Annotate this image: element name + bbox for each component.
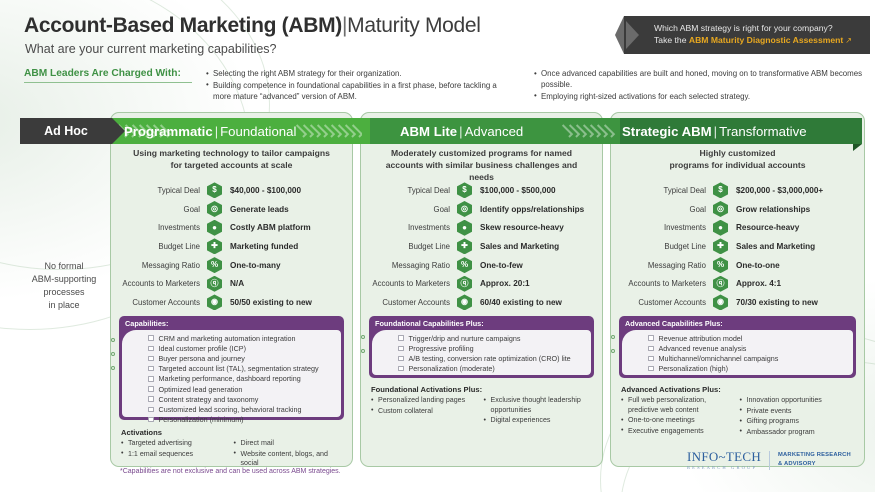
icon-glyph: ◉: [211, 298, 218, 306]
logo-tagline-line-1: MARKETING RESEARCH: [778, 451, 851, 460]
capability-label: Targeted account list (TAL), segmentatio…: [159, 364, 319, 373]
metric-value: $40,000 - $100,000: [222, 186, 301, 195]
metric-value: Approx. 4:1: [728, 279, 781, 288]
list-item: Website content, blogs, and social: [234, 450, 343, 469]
icon-glyph: ◎: [211, 205, 218, 213]
hexagon-badge: ●: [713, 220, 728, 236]
checkbox-icon[interactable]: [398, 335, 404, 341]
list-item: Building competence in foundational capa…: [206, 80, 516, 102]
metric-value: Sales and Marketing: [472, 242, 559, 251]
metrics-list: Typical Deal$$100,000 - $500,000Goal◎Ide…: [361, 181, 602, 312]
percent-icon: %: [207, 257, 222, 273]
budget-icon: ✚: [457, 238, 472, 254]
chevron-group: [296, 118, 362, 144]
activations-title: Activations: [121, 428, 342, 437]
stage-separator: |: [712, 124, 719, 139]
connector-dot: [611, 335, 615, 339]
checkbox-icon[interactable]: [398, 356, 404, 362]
hexagon-badge: $: [457, 182, 472, 198]
metric-value: N/A: [222, 279, 244, 288]
hexagon-badge: ◉: [457, 294, 472, 310]
metric-value: One-to-one: [728, 261, 780, 270]
activations-section: Advanced Activations Plus:Full web perso…: [621, 385, 854, 439]
capabilities-box: Capabilities:CRM and marketing automatio…: [119, 316, 344, 420]
activations-list-right: Direct mailWebsite content, blogs, and s…: [234, 439, 343, 470]
hexagon-badge: ◉: [207, 294, 222, 310]
metric-label: Typical Deal: [611, 186, 713, 195]
logo-divider: [769, 451, 770, 470]
list-item: Exclusive thought leadership opportuniti…: [484, 396, 593, 415]
list-item: Personalized landing pages: [371, 396, 480, 406]
activations-list-left: Personalized landing pagesCustom collate…: [371, 396, 480, 427]
list-item: Custom collateral: [371, 407, 480, 417]
list-item: Full web personalization, predictive web…: [621, 396, 736, 415]
charged-with-label: ABM Leaders Are Charged With:: [24, 68, 181, 79]
hexagon-badge: ◉: [713, 294, 728, 310]
stage-description: Using marketing technology to tailor cam…: [111, 147, 352, 171]
icon-glyph: ●: [718, 224, 723, 232]
cta-line-2: Take the ABM Maturity Diagnostic Assessm…: [654, 35, 852, 47]
capability-item[interactable]: Ideal customer profile (ICP): [122, 343, 341, 353]
metric-label: Messaging Ratio: [611, 261, 713, 270]
metric-label: Accounts to Marketers: [361, 279, 457, 288]
logo-main-text: INFO~TECH: [687, 450, 761, 463]
checkbox-icon[interactable]: [398, 346, 404, 352]
icon-glyph: ✚: [717, 242, 724, 250]
capabilities-panel: Foundational Capabilities Plus:Trigger/d…: [369, 316, 594, 378]
hexagon-badge: $: [207, 182, 222, 198]
icon-glyph: $: [462, 186, 466, 194]
capabilities-box: Advanced Capabilities Plus:Revenue attri…: [619, 316, 856, 378]
checkbox-icon[interactable]: [648, 356, 654, 362]
metric-label: Investments: [111, 223, 207, 232]
metric-label: Typical Deal: [361, 186, 457, 195]
cta-link[interactable]: ABM Maturity Diagnostic Assessment: [689, 35, 843, 45]
external-link-icon: ↗: [845, 36, 852, 45]
stage-name: ABM Lite: [400, 124, 457, 139]
metric-row: Goal◎Identify opps/relationships: [361, 200, 602, 219]
checkbox-icon[interactable]: [398, 366, 404, 372]
metric-label: Goal: [611, 205, 713, 214]
capability-label: Buyer persona and journey: [159, 354, 245, 363]
capabilities-checklist: Revenue attribution modelAdvanced revenu…: [622, 330, 853, 375]
metric-label: Goal: [111, 205, 207, 214]
page-title: Account-Based Marketing (ABM)|Maturity M…: [24, 14, 481, 38]
capabilities-panel: Capabilities:CRM and marketing automatio…: [119, 316, 344, 420]
accounts-icon: ◉: [457, 294, 472, 310]
capabilities-title: Advanced Capabilities Plus:: [625, 319, 723, 328]
list-item: 1:1 email sequences: [121, 450, 230, 460]
list-item: Direct mail: [234, 439, 343, 449]
icon-glyph: ✚: [211, 242, 218, 250]
capability-item[interactable]: Revenue attribution model: [622, 333, 853, 343]
list-item: Private events: [740, 407, 855, 417]
stage-description: Moderately customized programs for named…: [361, 147, 602, 183]
connector-dot: [361, 349, 365, 353]
activations-columns: Personalized landing pagesCustom collate…: [371, 396, 592, 427]
stage-separator: |: [213, 124, 220, 139]
hexagon-badge: ●: [207, 220, 222, 236]
metric-row: Customer Accounts◉60/40 existing to new: [361, 293, 602, 312]
stage-tier: Transformative: [719, 124, 806, 139]
icon-glyph: $: [718, 186, 722, 194]
abm-maturity-model-infographic: Account-Based Marketing (ABM)|Maturity M…: [0, 0, 875, 492]
hexagon-badge: ◎: [207, 201, 222, 217]
metric-label: Accounts to Marketers: [611, 279, 713, 288]
metric-label: Budget Line: [611, 242, 713, 251]
metric-row: Budget Line✚Marketing funded: [111, 237, 352, 256]
metric-label: Messaging Ratio: [361, 261, 457, 270]
hexagon-badge: ✚: [207, 238, 222, 254]
target-icon: ◎: [457, 201, 472, 217]
capability-label: Ideal customer profile (ICP): [159, 344, 246, 353]
metric-row: Goal◎Generate leads: [111, 200, 352, 219]
metric-row: Messaging Ratio%One-to-many: [111, 256, 352, 275]
list-item: Innovation opportunities: [740, 396, 855, 406]
capability-item[interactable]: Personalization (high): [622, 364, 853, 374]
checkbox-icon[interactable]: [648, 366, 654, 372]
capability-label: Trigger/drip and nurture campaigns: [409, 334, 521, 343]
stage-band-label: ABM Lite|Advanced: [400, 124, 523, 139]
hexagon-badge: ●: [457, 220, 472, 236]
capability-label: Optimized lead generation: [159, 385, 243, 394]
list-item: Gifting programs: [740, 417, 855, 427]
hexagon-badge: %: [207, 257, 222, 273]
page-title-sub: Maturity Model: [347, 14, 481, 37]
icon-glyph: $: [212, 186, 216, 194]
piggy-bank-icon: ●: [207, 220, 222, 236]
metric-label: Customer Accounts: [111, 298, 207, 307]
checkbox-icon[interactable]: [648, 346, 654, 352]
info-tech-logo: INFO~TECH RESEARCH GROUP MARKETING RESEA…: [687, 450, 851, 470]
metric-row: Typical Deal$$100,000 - $500,000: [361, 181, 602, 200]
chevron-group: [118, 118, 172, 144]
metrics-list: Typical Deal$$200,000 - $3,000,000+Goal◎…: [611, 181, 864, 312]
icon-glyph: ⓠ: [211, 280, 219, 288]
metric-value: Identify opps/relationships: [472, 205, 584, 214]
list-item: Digital experiences: [484, 416, 593, 426]
metric-value: Costly ABM platform: [222, 223, 311, 232]
stage-band-strategic-abm[interactable]: Strategic ABM|Transformative: [610, 118, 862, 144]
charged-with-list-right: Once advanced capabilities are built and…: [534, 68, 864, 103]
metric-row: Budget Line✚Sales and Marketing: [611, 237, 864, 256]
icon-glyph: %: [461, 261, 468, 269]
hexagon-badge: ⓠ: [207, 276, 222, 292]
list-item: Executive engagements: [621, 427, 736, 437]
dollar-icon: $: [713, 182, 728, 198]
connector-dot: [611, 349, 615, 353]
metric-value: $200,000 - $3,000,000+: [728, 186, 823, 195]
stage-band-label: Ad Hoc: [44, 124, 88, 138]
metric-value: 70/30 existing to new: [728, 298, 818, 307]
cta-line-1: Which ABM strategy is right for your com…: [654, 23, 852, 35]
icon-glyph: ●: [462, 224, 467, 232]
chevron-group: [562, 118, 618, 144]
icon-glyph: ⓠ: [717, 280, 725, 288]
metric-value: Generate leads: [222, 205, 289, 214]
metric-row: Messaging Ratio%One-to-few: [361, 256, 602, 275]
play-arrow-icon: [626, 21, 639, 49]
metric-row: Customer Accounts◉50/50 existing to new: [111, 293, 352, 312]
hexagon-badge: ⓠ: [713, 276, 728, 292]
hexagon-badge: %: [713, 257, 728, 273]
stage-tier: Foundational: [220, 124, 296, 139]
capability-label: Content strategy and taxonomy: [159, 395, 259, 404]
metric-row: Accounts to MarketersⓠApprox. 4:1: [611, 274, 864, 293]
metric-label: Messaging Ratio: [111, 261, 207, 270]
capabilities-checklist: CRM and marketing automation integration…: [122, 330, 341, 417]
capability-item[interactable]: Optimized lead generation: [122, 384, 341, 394]
metric-value: 60/40 existing to new: [472, 298, 562, 307]
activations-columns: Full web personalization, predictive web…: [621, 396, 854, 439]
checkbox-icon[interactable]: [148, 366, 154, 372]
footnote: *Capabilities are not exclusive and can …: [120, 468, 341, 475]
cta-banner[interactable]: Which ABM strategy is right for your com…: [624, 16, 870, 54]
capability-item[interactable]: A/B testing, conversion rate optimizatio…: [372, 353, 591, 363]
metric-row: Typical Deal$$40,000 - $100,000: [111, 181, 352, 200]
capability-label: CRM and marketing automation integration: [159, 334, 296, 343]
metric-row: Budget Line✚Sales and Marketing: [361, 237, 602, 256]
metric-row: Investments●Costly ABM platform: [111, 218, 352, 237]
capability-item[interactable]: Trigger/drip and nurture campaigns: [372, 333, 591, 343]
hexagon-badge: %: [457, 257, 472, 273]
hexagon-badge: ◎: [713, 201, 728, 217]
activations-list-right: Exclusive thought leadership opportuniti…: [484, 396, 593, 427]
metric-label: Customer Accounts: [361, 298, 457, 307]
capabilities-panel: Advanced Capabilities Plus:Revenue attri…: [619, 316, 856, 378]
capability-label: Personalization (high): [659, 364, 729, 373]
activations-title: Foundational Activations Plus:: [371, 385, 592, 394]
activations-section: Foundational Activations Plus:Personaliz…: [371, 385, 592, 427]
hexagon-badge: $: [713, 182, 728, 198]
metric-label: Accounts to Marketers: [111, 279, 207, 288]
connector-dot: [111, 352, 115, 356]
metric-row: Accounts to MarketersⓠN/A: [111, 274, 352, 293]
capabilities-title: Foundational Capabilities Plus:: [375, 319, 484, 328]
ad-hoc-description: No formal ABM-supporting processes in pl…: [16, 260, 112, 312]
metric-value: $100,000 - $500,000: [472, 186, 556, 195]
magnifier-icon: ⓠ: [713, 276, 728, 292]
metric-row: Customer Accounts◉70/30 existing to new: [611, 293, 864, 312]
charged-with-list-left: Selecting the right ABM strategy for the…: [206, 68, 516, 103]
checkbox-icon[interactable]: [148, 407, 154, 413]
dollar-icon: $: [457, 182, 472, 198]
connector-dot: [111, 338, 115, 342]
stage-column-ad-hoc: No formal ABM-supporting processes in pl…: [8, 112, 104, 467]
cta-text: Which ABM strategy is right for your com…: [654, 23, 852, 46]
capability-label: Advanced revenue analysis: [659, 344, 747, 353]
metric-label: Typical Deal: [111, 186, 207, 195]
stage-band-label: Strategic ABM|Transformative: [622, 124, 807, 139]
page-subtitle: What are your current marketing capabili…: [25, 42, 277, 56]
piggy-bank-icon: ●: [713, 220, 728, 236]
charged-underline: [24, 82, 192, 83]
magnifier-icon: ⓠ: [457, 276, 472, 292]
checkbox-icon[interactable]: [148, 346, 154, 352]
list-item: Ambassador program: [740, 428, 855, 438]
stage-column-strategic-abm: Highly customized programs for individua…: [610, 112, 865, 467]
activations-title: Advanced Activations Plus:: [621, 385, 854, 394]
magnifier-icon: ⓠ: [207, 276, 222, 292]
metric-value: 50/50 existing to new: [222, 298, 312, 307]
list-item: Selecting the right ABM strategy for the…: [206, 68, 516, 79]
logo-tagline-line-2: & ADVISORY: [778, 460, 851, 469]
metric-label: Investments: [361, 223, 457, 232]
capability-label: Customized lead scoring, behavioral trac…: [159, 405, 302, 414]
activations-list-left: Full web personalization, predictive web…: [621, 396, 736, 439]
stage-column-programmatic: Using marketing technology to tailor cam…: [110, 112, 353, 467]
metric-value: Resource-heavy: [728, 223, 799, 232]
icon-glyph: ◎: [461, 205, 468, 213]
capability-item[interactable]: CRM and marketing automation integration: [122, 333, 341, 343]
capabilities-checklist: Trigger/drip and nurture campaignsProgre…: [372, 330, 591, 375]
metric-value: Sales and Marketing: [728, 242, 815, 251]
capability-label: Progressive profiling: [409, 344, 474, 353]
hexagon-badge: ⓠ: [457, 276, 472, 292]
stage-separator: |: [457, 124, 464, 139]
metric-row: Messaging Ratio%One-to-one: [611, 256, 864, 275]
metric-value: One-to-many: [222, 261, 281, 270]
connector-dot: [361, 335, 365, 339]
connector-dot: [111, 366, 115, 370]
page-title-main: Account-Based Marketing (ABM): [24, 14, 342, 37]
metric-value: Approx. 20:1: [472, 279, 530, 288]
metric-label: Goal: [361, 205, 457, 214]
list-item: Targeted advertising: [121, 439, 230, 449]
logo-sub-text: RESEARCH GROUP: [687, 465, 761, 470]
icon-glyph: ◎: [717, 205, 724, 213]
metric-value: Marketing funded: [222, 242, 298, 251]
icon-glyph: ✚: [461, 242, 468, 250]
capability-item[interactable]: Marketing performance, dashboard reporti…: [122, 374, 341, 384]
checkbox-icon[interactable]: [148, 356, 154, 362]
activations-columns: Targeted advertising1:1 email sequencesD…: [121, 439, 342, 470]
capability-item[interactable]: Buyer persona and journey: [122, 353, 341, 363]
capability-label: Personalization (moderate): [409, 364, 495, 373]
capability-label: Personalization (minimum): [159, 415, 244, 424]
capability-item[interactable]: Personalization (moderate): [372, 364, 591, 374]
metric-row: Investments●Resource-heavy: [611, 218, 864, 237]
stage-name: Strategic ABM: [622, 124, 712, 139]
target-icon: ◎: [207, 201, 222, 217]
piggy-bank-icon: ●: [457, 220, 472, 236]
checkbox-icon[interactable]: [648, 335, 654, 341]
budget-icon: ✚: [207, 238, 222, 254]
logo-tagline: MARKETING RESEARCH & ADVISORY: [778, 451, 851, 468]
stage-description: Highly customized programs for individua…: [611, 147, 864, 171]
list-item: Employing right-sized activations for ea…: [534, 91, 864, 102]
percent-icon: %: [457, 257, 472, 273]
activations-list-right: Innovation opportunitiesPrivate eventsGi…: [740, 396, 855, 439]
icon-glyph: %: [717, 261, 724, 269]
activations-section: ActivationsTargeted advertising1:1 email…: [121, 428, 342, 470]
logo-wordmark: INFO~TECH RESEARCH GROUP: [687, 450, 761, 470]
activations-list-left: Targeted advertising1:1 email sequences: [121, 439, 230, 470]
cta-prefix: Take the: [654, 35, 689, 45]
capability-item[interactable]: Targeted account list (TAL), segmentatio…: [122, 364, 341, 374]
capability-item[interactable]: Multichannel/omnichannel campaigns: [622, 353, 853, 363]
capability-item[interactable]: Progressive profiling: [372, 343, 591, 353]
accounts-icon: ◉: [713, 294, 728, 310]
metric-label: Investments: [611, 223, 713, 232]
metric-label: Budget Line: [361, 242, 457, 251]
metric-value: Grow relationships: [728, 205, 810, 214]
capabilities-title: Capabilities:: [125, 319, 168, 328]
capability-label: Multichannel/omnichannel campaigns: [659, 354, 779, 363]
icon-glyph: ◉: [717, 298, 724, 306]
hexagon-badge: ◎: [457, 201, 472, 217]
stage-column-abm-lite: Moderately customized programs for named…: [360, 112, 603, 467]
checkbox-icon[interactable]: [148, 417, 154, 423]
budget-icon: ✚: [713, 238, 728, 254]
metrics-list: Typical Deal$$40,000 - $100,000Goal◎Gene…: [111, 181, 352, 312]
capability-item[interactable]: Customized lead scoring, behavioral trac…: [122, 404, 341, 414]
metric-row: Typical Deal$$200,000 - $3,000,000+: [611, 181, 864, 200]
metric-value: Skew resource-heavy: [472, 223, 564, 232]
capability-label: A/B testing, conversion rate optimizatio…: [409, 354, 571, 363]
capability-item[interactable]: Personalization (minimum): [122, 415, 341, 425]
capability-item[interactable]: Advanced revenue analysis: [622, 343, 853, 353]
icon-glyph: ◉: [461, 298, 468, 306]
stage-tier: Advanced: [465, 124, 524, 139]
checkbox-icon[interactable]: [148, 396, 154, 402]
list-item: Once advanced capabilities are built and…: [534, 68, 864, 90]
hexagon-badge: ✚: [457, 238, 472, 254]
icon-glyph: ●: [212, 224, 217, 232]
checkbox-icon[interactable]: [148, 386, 154, 392]
capability-label: Revenue attribution model: [659, 334, 743, 343]
metric-row: Goal◎Grow relationships: [611, 200, 864, 219]
icon-glyph: %: [211, 261, 218, 269]
metric-row: Accounts to MarketersⓠApprox. 20:1: [361, 274, 602, 293]
stage-band-ad-hoc[interactable]: Ad Hoc: [20, 118, 112, 144]
metric-value: One-to-few: [472, 261, 523, 270]
list-item: One-to-one meetings: [621, 416, 736, 426]
metric-label: Budget Line: [111, 242, 207, 251]
capability-label: Marketing performance, dashboard reporti…: [159, 374, 301, 383]
icon-glyph: ⓠ: [461, 280, 469, 288]
metric-label: Customer Accounts: [611, 298, 713, 307]
checkbox-icon[interactable]: [148, 335, 154, 341]
hexagon-badge: ✚: [713, 238, 728, 254]
percent-icon: %: [713, 257, 728, 273]
checkbox-icon[interactable]: [148, 376, 154, 382]
target-icon: ◎: [713, 201, 728, 217]
dollar-icon: $: [207, 182, 222, 198]
accounts-icon: ◉: [207, 294, 222, 310]
metric-row: Investments●Skew resource-heavy: [361, 218, 602, 237]
capability-item[interactable]: Content strategy and taxonomy: [122, 394, 341, 404]
capabilities-box: Foundational Capabilities Plus:Trigger/d…: [369, 316, 594, 378]
